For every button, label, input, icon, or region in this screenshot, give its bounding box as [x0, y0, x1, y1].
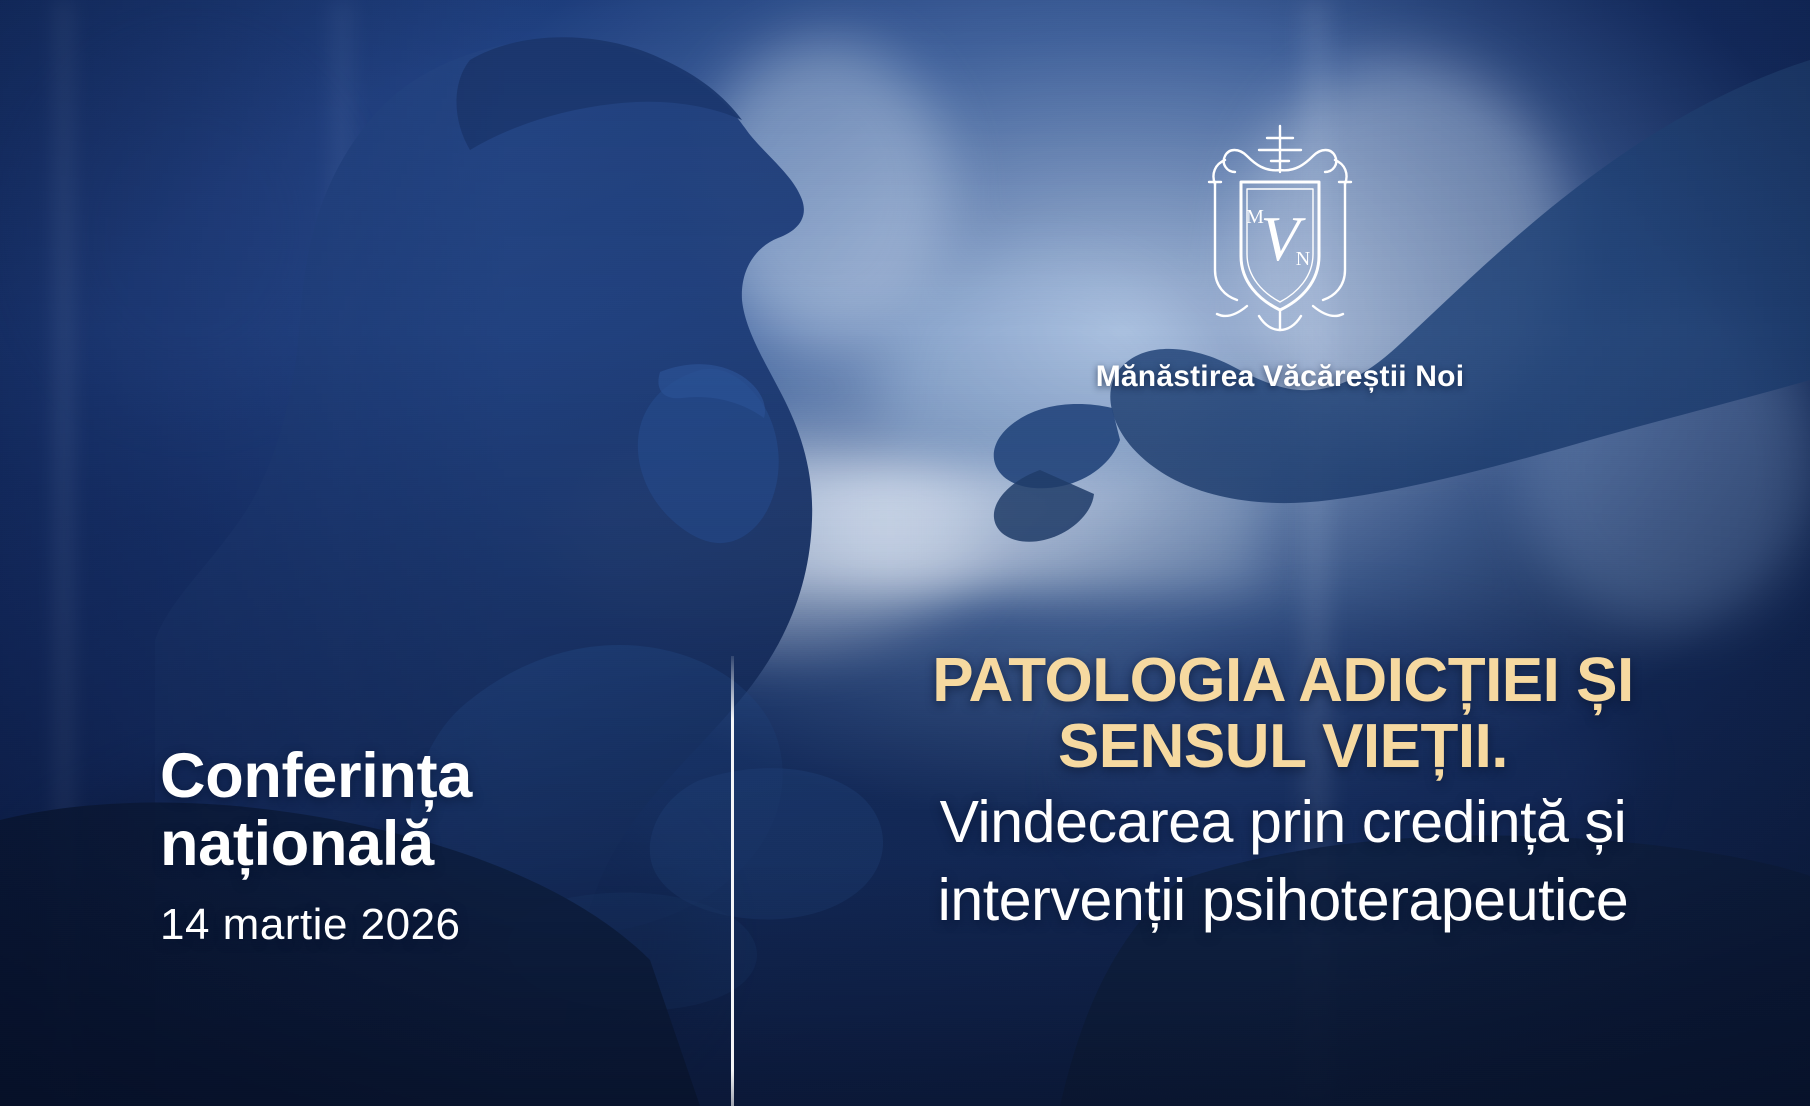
event-kind-line-2: națională	[160, 810, 700, 878]
orthodox-monastery-crest-icon: V M N	[1185, 120, 1375, 335]
monastery-name: Mănăstirea Văcăreștii Noi	[1080, 360, 1480, 394]
event-info-block: Conferința națională 14 martie 2026	[160, 742, 700, 950]
event-kind-line-1: Conferința	[160, 742, 700, 810]
subheadline-line-1: Vindecarea prin credință și	[772, 789, 1794, 856]
monastery-crest: V M N	[1185, 120, 1375, 335]
vertical-divider	[731, 656, 734, 1106]
orthodox-cross-icon	[1259, 126, 1301, 172]
crest-monogram-m: M	[1246, 206, 1264, 228]
event-date: 14 martie 2026	[160, 900, 700, 950]
crest-monogram-n: N	[1296, 248, 1310, 270]
title-block: PATOLOGIA ADICȚIEI ȘI SENSUL VIEȚII. Vin…	[772, 648, 1794, 934]
headline-line-2: SENSUL VIEȚII.	[772, 714, 1794, 780]
subheadline-line-2: intervenții psihoterapeutice	[772, 867, 1794, 934]
headline-line-1: PATOLOGIA ADICȚIEI ȘI	[772, 648, 1794, 714]
poster-canvas: V M N Mănăstirea Văcăreștii Noi Conferin…	[0, 0, 1810, 1106]
